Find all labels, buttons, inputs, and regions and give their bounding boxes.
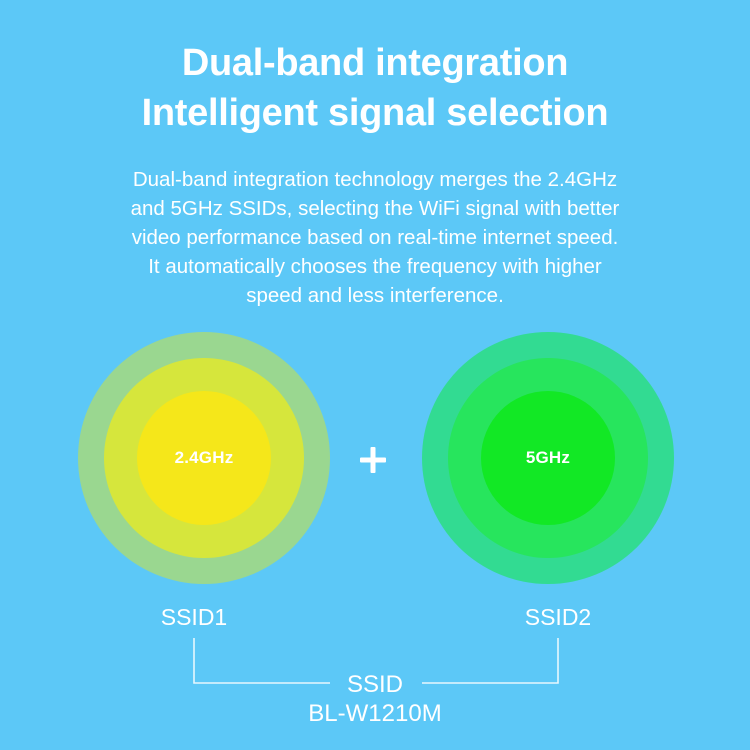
ssid2-label: SSID2 bbox=[468, 604, 648, 631]
page-title: Dual-band integration Intelligent signal… bbox=[0, 38, 750, 138]
signal-group-2-4ghz: 2.4GHz bbox=[78, 332, 330, 584]
combined-ssid-label: SSID bbox=[0, 671, 750, 699]
signal-group-5ghz: 5GHz bbox=[422, 332, 674, 584]
description-line-5: speed and less interference. bbox=[75, 281, 675, 310]
ssid1-label: SSID1 bbox=[104, 604, 284, 631]
band-label-5ghz: 5GHz bbox=[422, 448, 674, 468]
description-line-2: and 5GHz SSIDs, selecting the WiFi signa… bbox=[75, 194, 675, 223]
description-line-4: It automatically chooses the frequency w… bbox=[75, 252, 675, 281]
page-title-line-2: Intelligent signal selection bbox=[0, 88, 750, 138]
band-label-2-4ghz: 2.4GHz bbox=[78, 448, 330, 468]
model-name-label: BL-W1210M bbox=[0, 700, 750, 728]
description-line-3: video performance based on real-time int… bbox=[75, 223, 675, 252]
description-paragraph: Dual-band integration technology merges … bbox=[75, 165, 675, 310]
page-title-line-1: Dual-band integration bbox=[0, 38, 750, 88]
promo-slide: Dual-band integration Intelligent signal… bbox=[0, 0, 750, 750]
plus-icon bbox=[360, 447, 386, 473]
description-line-1: Dual-band integration technology merges … bbox=[75, 165, 675, 194]
